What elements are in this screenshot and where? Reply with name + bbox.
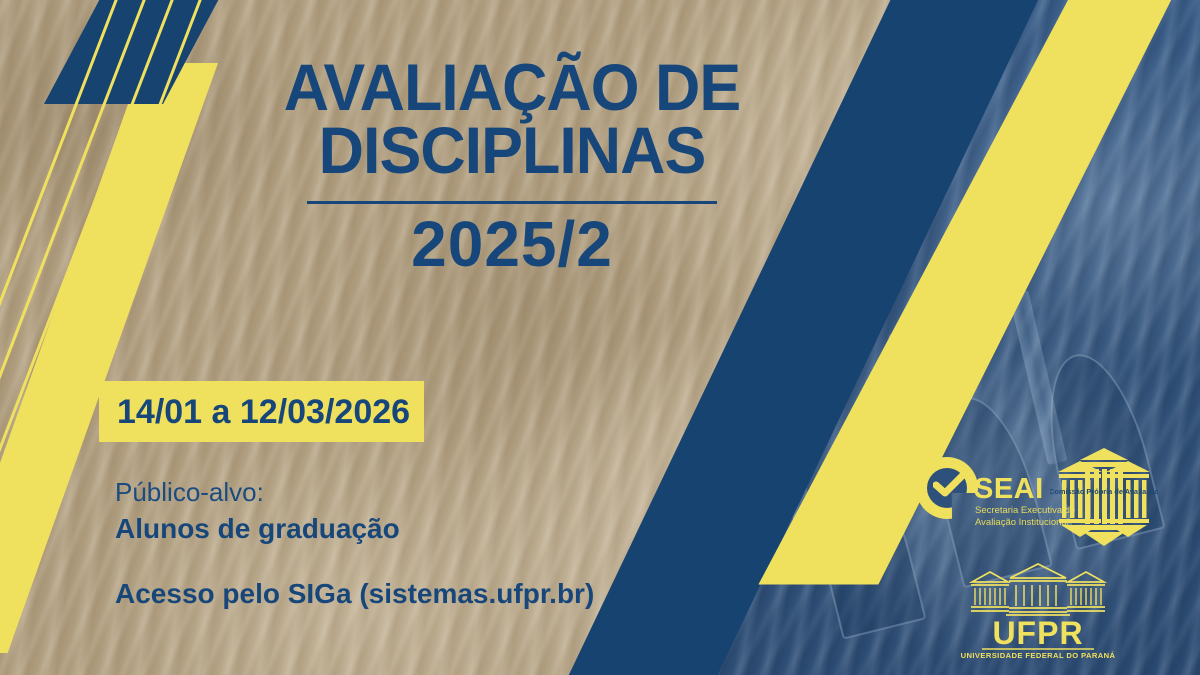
title-line-2: DISCIPLINAS xyxy=(265,119,759,182)
audience-label: Público-alvo: xyxy=(115,476,400,509)
title-year: 2025/2 xyxy=(252,212,772,276)
cpa-caption: Comissão Própria de Avaliação xyxy=(1050,487,1158,496)
ufpr-buildings-icon: UFPR UNIVERSIDADE FEDERAL DO PARANÁ xyxy=(958,562,1118,662)
ufpr-logo: UFPR UNIVERSIDADE FEDERAL DO PARANÁ xyxy=(958,562,1118,662)
audience-block: Público-alvo: Alunos de graduação xyxy=(115,476,400,547)
poster-canvas: AVALIAÇÃO DE DISCIPLINAS 2025/2 14/01 a … xyxy=(0,0,1200,675)
access-info: Acesso pelo SIGa (sistemas.ufpr.br) xyxy=(115,578,594,610)
check-mark-icon xyxy=(933,472,967,498)
date-range-badge: 14/01 a 12/03/2026 xyxy=(99,381,424,442)
title-divider xyxy=(307,201,717,204)
classical-building-icon: Comissão Própria de Avaliação xyxy=(1050,448,1158,546)
audience-value: Alunos de graduação xyxy=(115,511,400,547)
page-title: AVALIAÇÃO DE DISCIPLINAS 2025/2 xyxy=(252,56,772,276)
seai-name: SEAI xyxy=(974,475,1044,504)
cpa-logo: Comissão Própria de Avaliação xyxy=(1050,448,1158,546)
title-line-1: AVALIAÇÃO DE xyxy=(265,56,759,119)
ufpr-caption: UNIVERSIDADE FEDERAL DO PARANÁ xyxy=(961,651,1116,660)
seai-logo: SEAI Secretaria Executiva de Avaliação I… xyxy=(916,457,1051,549)
ufpr-name: UFPR xyxy=(992,615,1083,651)
